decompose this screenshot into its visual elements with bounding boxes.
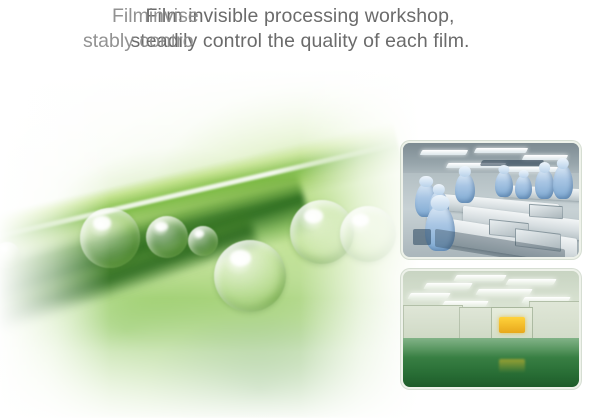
promo-banner: Film invisible processing workshop, stea… [0,0,600,418]
yellow-equipment-reflection [499,359,525,373]
water-droplet [80,208,140,268]
ceiling-light [474,148,528,153]
cleanroom-worker [515,175,532,199]
ceiling-duct [480,160,545,166]
green-leaf-with-water-droplets [0,70,420,418]
hall-wall-panel [403,305,463,341]
film-tray [529,204,563,219]
ceiling-light [420,150,468,155]
water-droplet [188,226,218,256]
worker-seat [413,229,431,245]
water-droplet [146,216,188,258]
ceiling-light [407,293,450,299]
headline-line-1-text: Film invisible processing workshop, [0,4,600,29]
cleanroom-hall-photo-content [403,271,579,387]
cleanroom-worker [553,165,573,199]
yellow-equipment [499,317,525,333]
headline-line-2-ghost-overlay: stably contro [83,29,194,54]
ceiling-light [453,275,506,281]
ceiling-light [505,279,556,285]
ceiling-light [423,283,472,289]
hall-wall-panel [459,307,495,341]
cleanroom-worker [495,171,513,197]
cleanroom-worker [455,173,475,203]
cleanroom-worker [535,169,554,199]
cleanroom-hall-photo [401,269,581,389]
headline-line-1: Film invisible processing workshop, [0,4,600,29]
water-droplet [214,240,286,312]
water-droplet [340,206,396,262]
ceiling-light [475,289,532,295]
headline-line-1-ghost-overlay: Filminvise [112,4,199,29]
cleanroom-workers-photo [401,141,581,259]
floor-gloss-reflection [403,338,579,387]
cleanroom-workers-photo-content [403,143,579,257]
